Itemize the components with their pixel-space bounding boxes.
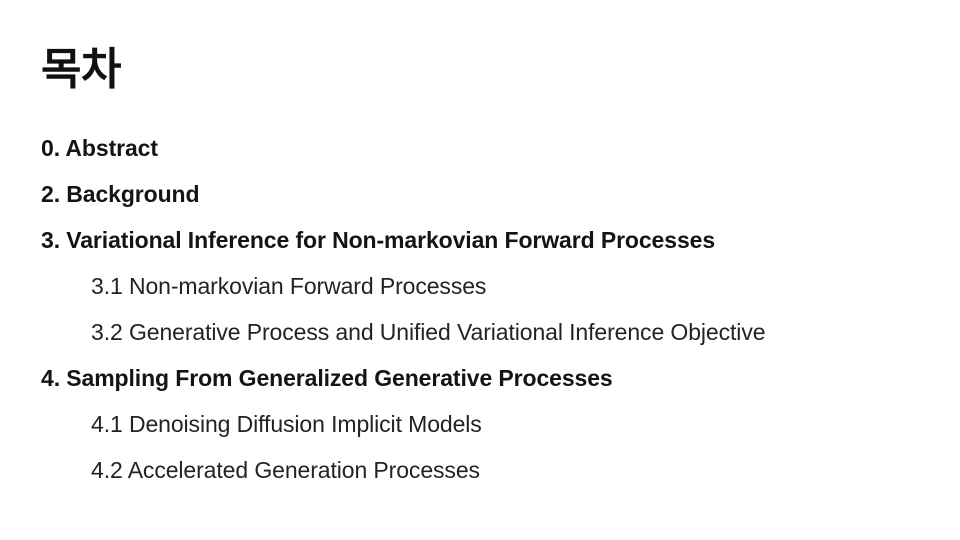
toc-entry-label: 2. Background [41, 181, 199, 208]
toc-entry-label: 0. Abstract [41, 135, 158, 162]
toc-entry-variational-inference[interactable]: 3. Variational Inference for Non-markovi… [0, 217, 960, 263]
toc-entry-abstract[interactable]: 0. Abstract [0, 125, 960, 171]
toc-entry-background[interactable]: 2. Background [0, 171, 960, 217]
toc-entry-non-markovian-forward-processes[interactable]: 3.1 Non-markovian Forward Processes [0, 263, 960, 309]
toc-entry-sampling-generalized-processes[interactable]: 4. Sampling From Generalized Generative … [0, 355, 960, 401]
toc-entry-label: 3. Variational Inference for Non-markovi… [41, 227, 715, 254]
page-title: 목차 [41, 45, 121, 96]
table-of-contents-list: 0. Abstract 2. Background 3. Variational… [0, 125, 960, 493]
toc-entry-label: 4. Sampling From Generalized Generative … [41, 365, 613, 392]
toc-entry-label: 4.2 Accelerated Generation Processes [91, 457, 480, 484]
toc-entry-denoising-diffusion-implicit-models[interactable]: 4.1 Denoising Diffusion Implicit Models [0, 401, 960, 447]
toc-entry-accelerated-generation-processes[interactable]: 4.2 Accelerated Generation Processes [0, 447, 960, 493]
toc-entry-label: 3.1 Non-markovian Forward Processes [91, 273, 486, 300]
presentation-slide: 목차 0. Abstract 2. Background 3. Variatio… [0, 0, 960, 540]
toc-entry-label: 3.2 Generative Process and Unified Varia… [91, 319, 765, 346]
toc-entry-generative-process-unified-objective[interactable]: 3.2 Generative Process and Unified Varia… [0, 309, 960, 355]
toc-entry-label: 4.1 Denoising Diffusion Implicit Models [91, 411, 482, 438]
